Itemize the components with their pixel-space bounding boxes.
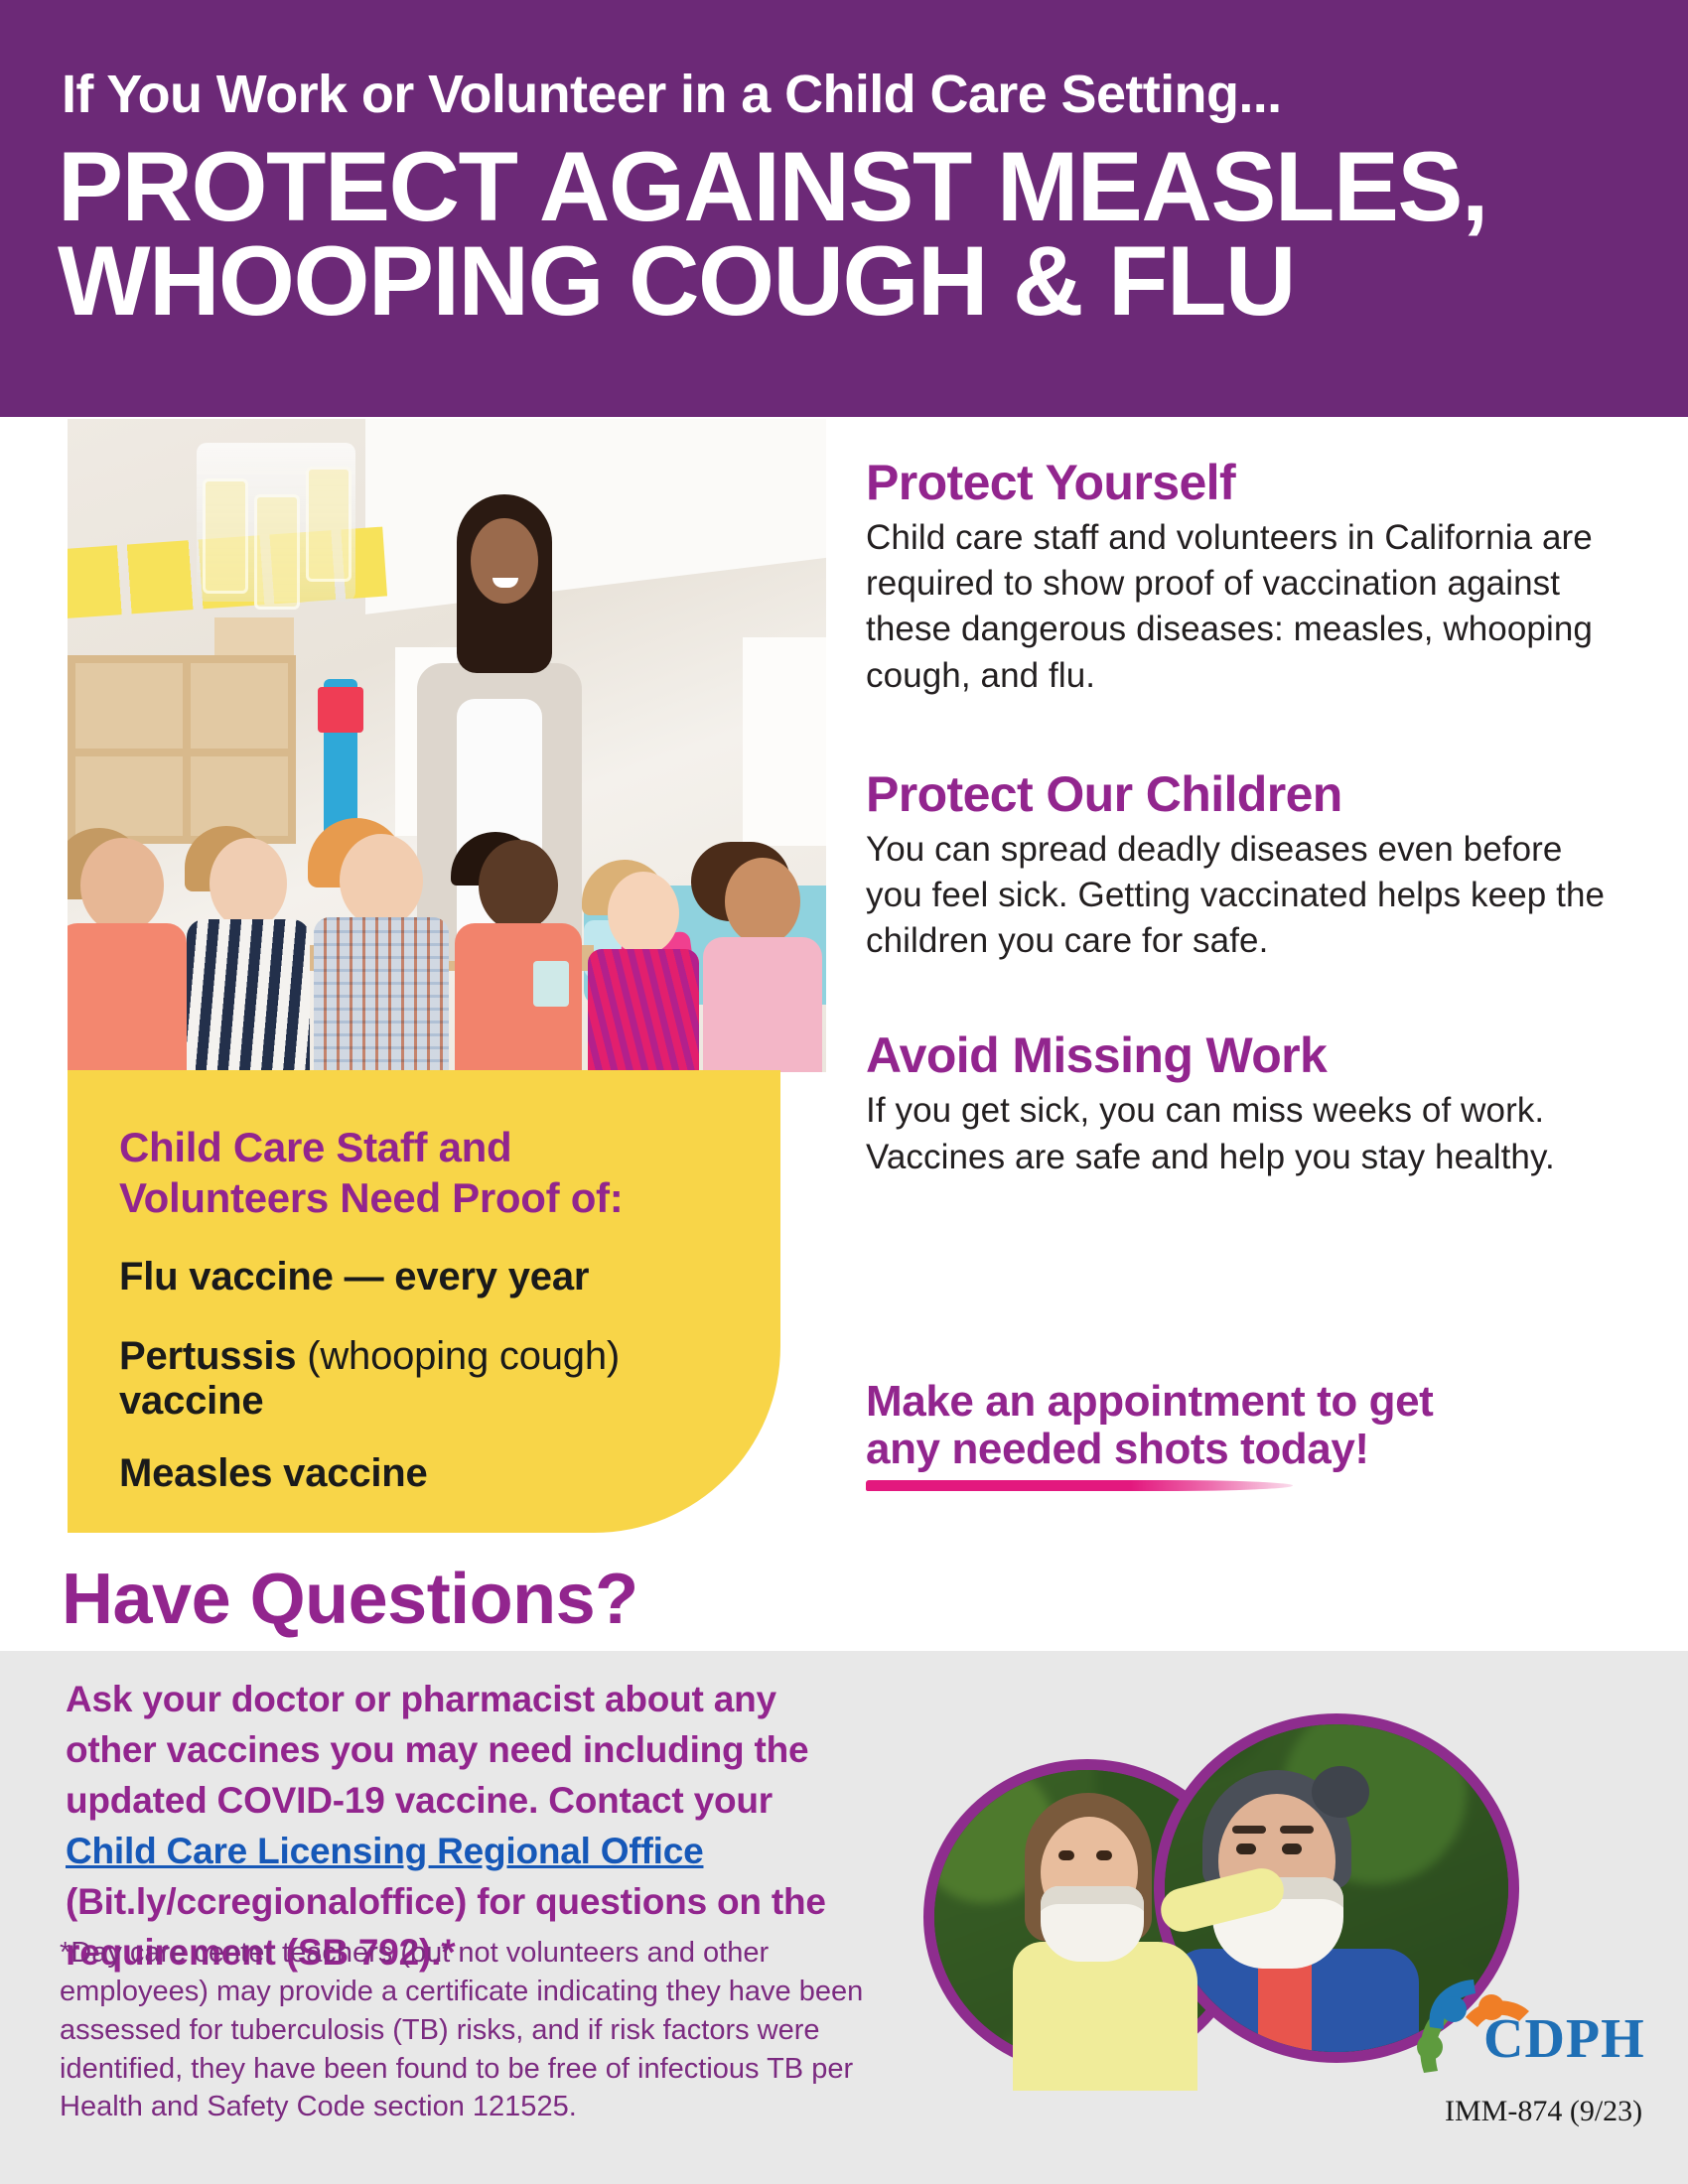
photo-girl: [1019, 1793, 1207, 2081]
photo-child-4: [455, 840, 582, 1072]
cdph-logo: CDPH: [1408, 1970, 1656, 2087]
photo-child-6: [703, 846, 822, 1072]
proof-item-flu-label: Flu vaccine — every year: [119, 1255, 589, 1298]
section-body-avoid-missing-work: If you get sick, you can miss weeks of w…: [866, 1088, 1620, 1179]
proof-item-pertussis-vaccine: vaccine: [119, 1379, 263, 1423]
section-heading-protect-our-children: Protect Our Children: [866, 768, 1620, 821]
page-title: PROTECT AGAINST MEASLES, WHOOPING COUGH …: [58, 139, 1666, 328]
proof-item-pertussis-label: Pertussis: [119, 1334, 296, 1378]
footer-ask-part-1: Ask your doctor or pharmacist about any …: [66, 1679, 808, 1821]
cta-brush-underline: [866, 1480, 1293, 1491]
proof-requirements-box: Child Care Staff and Volunteers Need Pro…: [68, 1070, 780, 1533]
section-heading-avoid-missing-work: Avoid Missing Work: [866, 1029, 1620, 1082]
photo-shelf-top: [214, 617, 294, 659]
section-protect-our-children: Protect Our Children You can spread dead…: [866, 768, 1620, 965]
call-to-action: Make an appointment to get any needed sh…: [866, 1378, 1581, 1491]
footer-footnote: *Day care center teachers (but not volun…: [60, 1934, 884, 2126]
cdph-wordmark: CDPH: [1483, 2007, 1645, 2071]
section-avoid-missing-work: Avoid Missing Work If you get sick, you …: [866, 1029, 1620, 1179]
proof-heading-line-1: Child Care Staff and: [119, 1124, 511, 1170]
benefits-column: Protect Yourself Child care staff and vo…: [866, 457, 1620, 1180]
footer-ask-text: Ask your doctor or pharmacist about any …: [66, 1674, 850, 1978]
photo-window-right: [743, 637, 826, 846]
header-kicker: If You Work or Volunteer in a Child Care…: [62, 68, 1611, 121]
have-questions-heading: Have Questions?: [62, 1559, 638, 1640]
section-protect-yourself: Protect Yourself Child care staff and vo…: [866, 457, 1620, 699]
proof-item-pertussis: Pertussis (whooping cough) vaccine: [119, 1334, 705, 1424]
proof-item-flu: Flu vaccine — every year: [119, 1255, 755, 1299]
photo-teacher-face: [471, 518, 538, 604]
title-line-2: WHOOPING COUGH & FLU: [58, 233, 1666, 328]
photo-pendant-lamp: [197, 443, 355, 602]
cta-line-1: Make an appointment to get: [866, 1377, 1433, 1426]
photo-child-2: [187, 838, 310, 1072]
photo-child-1: [68, 838, 187, 1072]
proof-item-measles: Measles vaccine: [119, 1451, 755, 1496]
section-body-protect-yourself: Child care staff and volunteers in Calif…: [866, 515, 1620, 699]
header-banner: If You Work or Volunteer in a Child Care…: [0, 0, 1688, 417]
proof-heading-line-2: Volunteers Need Proof of:: [119, 1174, 623, 1221]
classroom-photo: [68, 419, 826, 1072]
cta-line-2: any needed shots today!: [866, 1425, 1369, 1473]
photo-shelf: [68, 655, 296, 844]
section-body-protect-our-children: You can spread deadly diseases even befo…: [866, 827, 1620, 965]
publication-code: IMM-874 (9/23): [1445, 2095, 1642, 2128]
photo-child-5: [588, 846, 699, 1072]
photo-child-3: [314, 834, 449, 1072]
child-care-licensing-regional-office-link[interactable]: Child Care Licensing Regional Office: [66, 1831, 703, 1871]
proof-box-heading: Child Care Staff and Volunteers Need Pro…: [119, 1122, 755, 1223]
cta-text: Make an appointment to get any needed sh…: [866, 1378, 1581, 1474]
proof-item-measles-label: Measles vaccine: [119, 1451, 428, 1495]
proof-item-pertussis-paren: (whooping cough): [296, 1334, 620, 1378]
section-heading-protect-yourself: Protect Yourself: [866, 457, 1620, 509]
